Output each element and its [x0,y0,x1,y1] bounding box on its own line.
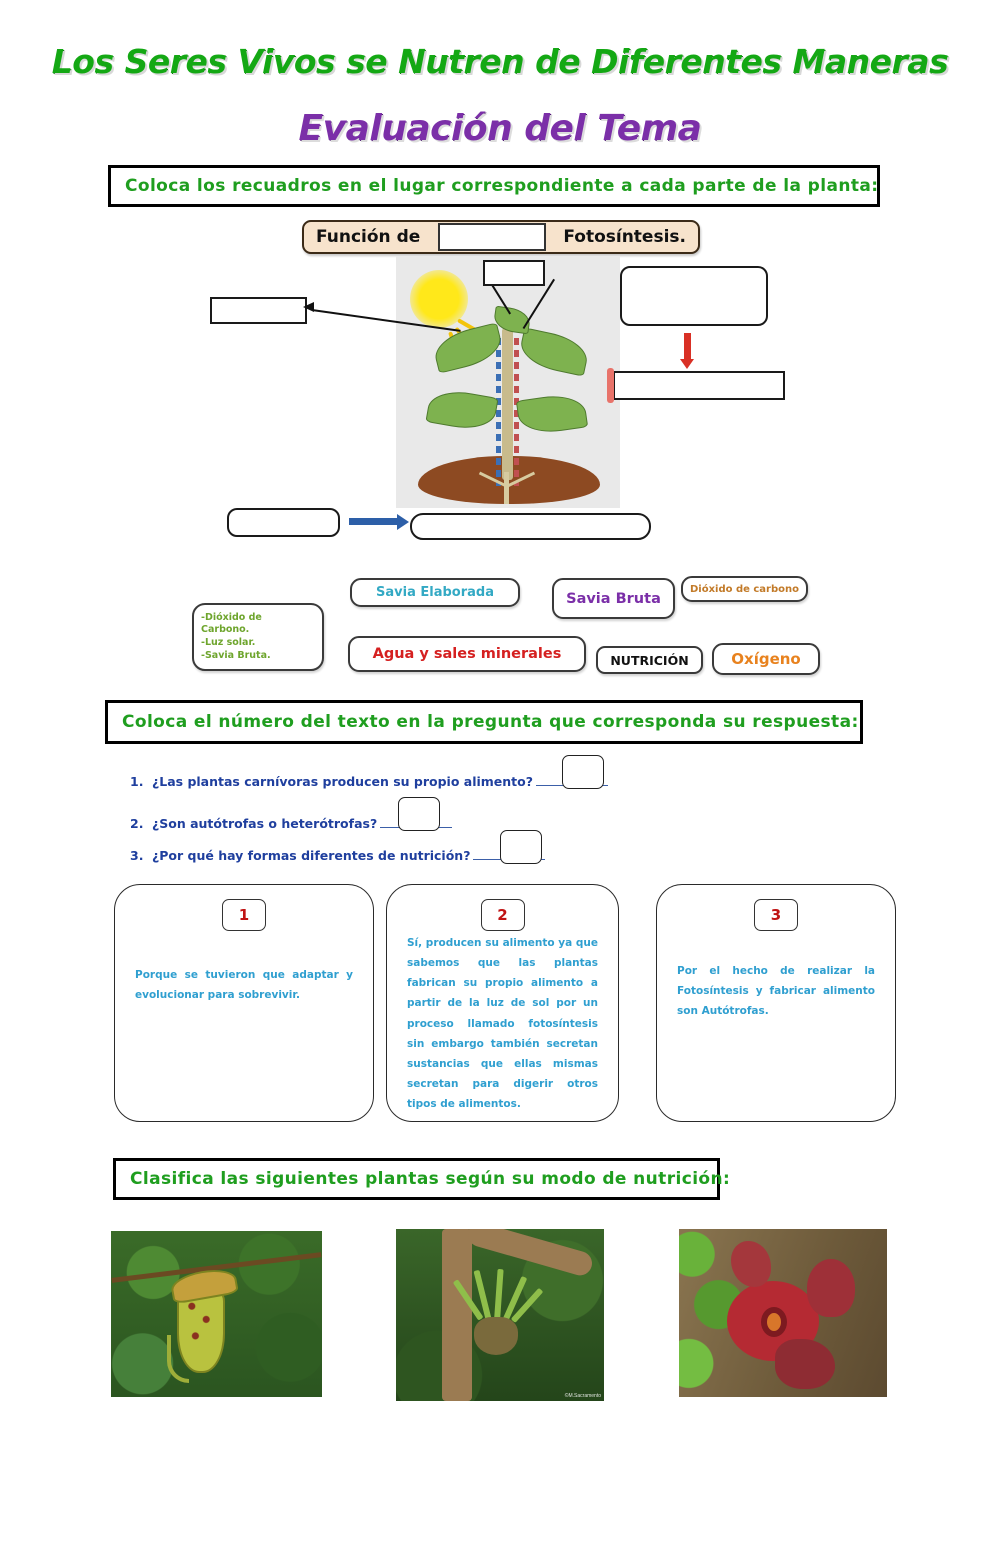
question-row-1: 1. ¿Las plantas carnívoras producen su p… [130,772,608,789]
word-chip-oxigeno[interactable]: Oxígeno [712,643,820,675]
bromeliad-root-mass [474,1317,518,1355]
answer-card-text-3: Por el hecho de realizar la Fotosíntesis… [677,961,875,1021]
question-row-3: 3. ¿Por qué hay formas diferentes de nut… [130,846,545,863]
plant-photo-pitcher-plant[interactable] [111,1231,322,1397]
plant-photo-rafflesia[interactable] [679,1229,887,1397]
plant-stem [502,328,513,480]
instruction-text-1: Coloca los recuadros en el lugar corresp… [125,176,878,196]
fotosintesis-label: Fotosíntesis. [563,227,686,247]
plant-photo-bromeliad[interactable]: ©M.Sacramento [396,1229,604,1401]
drop-box-right-top[interactable] [620,266,768,326]
drop-box-bottom-right[interactable] [410,513,651,540]
photosynthesis-plant-illustration [396,256,620,508]
word-chip-savia-bruta[interactable]: Savia Bruta [552,578,675,619]
rafflesia-bud-bottom [775,1339,835,1389]
answer-drop-box-2[interactable] [398,797,440,831]
blue-right-arrow-icon [349,518,397,525]
answer-card-2[interactable]: 2 Sí, producen su alimento ya que sabemo… [386,884,619,1122]
funcion-drop-slot[interactable] [438,223,546,251]
question-text-1: ¿Las plantas carnívoras producen su prop… [152,774,533,789]
instruction-banner-3: Clasifica las siguientes plantas según s… [113,1158,720,1200]
answer-card-3[interactable]: 3 Por el hecho de realizar la Fotosíntes… [656,884,896,1122]
answer-card-badge-1: 1 [222,899,266,931]
word-chip-nutricion[interactable]: NUTRICIÓN [596,646,703,674]
rafflesia-center-glow [767,1313,781,1331]
answer-card-1[interactable]: 1 Porque se tuvieron que adaptar y evolu… [114,884,374,1122]
question-number-2: 2. [130,816,152,831]
funcion-label: Función de [316,227,420,247]
drop-box-right-bottom[interactable] [613,371,785,400]
answer-card-text-2: Sí, producen su alimento ya que sabemos … [407,933,598,1114]
question-number-3: 3. [130,848,152,863]
answer-card-text-1: Porque se tuvieron que adaptar y evoluci… [135,965,353,1005]
drop-box-leaf-top[interactable] [483,260,545,286]
red-marker-bar [607,368,614,403]
pointer-arrow-line [522,279,555,329]
word-chip-savia-elaborada[interactable]: Savia Elaborada [350,578,520,607]
answer-drop-box-1[interactable] [562,755,604,789]
funcion-fotosintesis-header: Función de Fotosíntesis. [302,220,700,254]
word-chip-list[interactable]: -Dióxido de Carbono. -Luz solar. -Savia … [192,603,324,671]
rafflesia-bud-right [807,1259,855,1317]
leaf [517,327,591,376]
red-down-arrow-icon [684,333,691,359]
instruction-banner-2: Coloca el número del texto en la pregunt… [105,700,863,744]
answer-drop-box-3[interactable] [500,830,542,864]
instruction-text-2: Coloca el número del texto en la pregunt… [122,712,859,732]
instruction-banner-1: Coloca los recuadros en el lugar corresp… [108,165,880,207]
tree-trunk [442,1229,472,1401]
leader-arrowhead-left [303,302,314,312]
word-chip-agua-sales[interactable]: Agua y sales minerales [348,636,586,672]
root [504,472,509,504]
drop-box-bottom-left[interactable] [227,508,340,537]
leaf [431,322,506,373]
instruction-text-3: Clasifica las siguientes plantas según s… [130,1169,730,1189]
word-chip-list-text: -Dióxido de Carbono. -Luz solar. -Savia … [201,612,271,662]
leaf [516,391,588,436]
question-text-3: ¿Por qué hay formas diferentes de nutric… [152,848,470,863]
page-title: Los Seres Vivos se Nutren de Diferentes … [0,42,1000,81]
xylem-channel [496,338,501,486]
answer-card-badge-2: 2 [481,899,525,931]
drop-box-left[interactable] [210,297,307,324]
answer-card-badge-3: 3 [754,899,798,931]
leaf [425,386,498,433]
photo-watermark: ©M.Sacramento [565,1393,601,1399]
question-text-2: ¿Son autótrofas o heterótrofas? [152,816,377,831]
page-subtitle: Evaluación del Tema [0,108,1000,149]
question-number-1: 1. [130,774,152,789]
word-chip-dioxido-carbono[interactable]: Dióxido de carbono [681,576,808,602]
